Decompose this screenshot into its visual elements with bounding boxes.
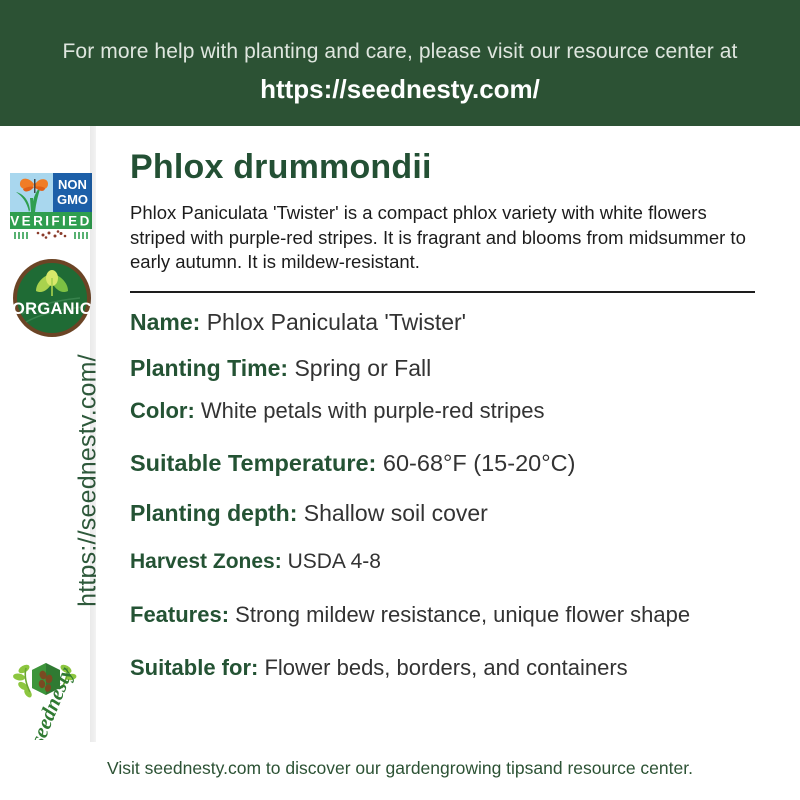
detail-label-name: Name: xyxy=(130,309,200,335)
detail-label-suitable-temperature: Suitable Temperature: xyxy=(130,450,376,476)
non-gmo-verified-icon: NON GMO VERIFIED xyxy=(7,170,95,242)
detail-value-harvest-zones: USDA 4-8 xyxy=(288,550,381,573)
detail-label-planting-depth: Planting depth: xyxy=(130,500,297,526)
detail-row-color: Color: White petals with purple-red stri… xyxy=(130,398,754,423)
footer-text: Visit seednesty.com to discover our gard… xyxy=(107,758,693,779)
detail-label-suitable-for: Suitable for: xyxy=(130,655,258,680)
detail-row-planting-time: Planting Time: Spring or Fall xyxy=(130,355,754,381)
seednesty-logo: seednesty xyxy=(2,644,96,740)
detail-label-features: Features: xyxy=(130,602,229,627)
detail-label-harvest-zones: Harvest Zones: xyxy=(130,550,282,573)
header-website-url[interactable]: https://seednesty.com/ xyxy=(260,74,540,105)
detail-value-name: Phlox Paniculata 'Twister' xyxy=(207,309,466,335)
footer: Visit seednesty.com to discover our gard… xyxy=(0,742,800,800)
non-gmo-line1-text: NON xyxy=(58,177,87,192)
body-area: NON GMO VERIFIED xyxy=(0,126,800,742)
organic-seal-text: ORGANIC xyxy=(12,300,92,318)
product-info-card: Phlox drummondii Phlox Paniculata 'Twist… xyxy=(96,126,800,742)
non-gmo-verified-text: VERIFIED xyxy=(10,214,91,229)
detail-value-planting-time: Spring or Fall xyxy=(294,355,431,381)
product-description: Phlox Paniculata 'Twister' is a compact … xyxy=(130,201,754,274)
detail-row-harvest-zones: Harvest Zones: USDA 4-8 xyxy=(130,550,754,574)
detail-label-planting-time: Planting Time: xyxy=(130,355,288,381)
detail-value-features: Strong mildew resistance, unique flower … xyxy=(235,602,690,627)
detail-row-planting-depth: Planting depth: Shallow soil cover xyxy=(130,500,754,526)
detail-row-suitable-temperature: Suitable Temperature: 60-68°F (15-20°C) xyxy=(130,450,754,477)
detail-list: Name: Phlox Paniculata 'Twister' Plantin… xyxy=(130,309,754,680)
detail-value-color: White petals with purple-red stripes xyxy=(201,398,545,423)
detail-row-name: Name: Phlox Paniculata 'Twister' xyxy=(130,309,754,335)
header-help-text: For more help with planting and care, pl… xyxy=(63,39,738,65)
detail-row-features: Features: Strong mildew resistance, uniq… xyxy=(130,602,754,627)
detail-value-planting-depth: Shallow soil cover xyxy=(304,500,488,526)
detail-value-suitable-for: Flower beds, borders, and containers xyxy=(264,655,627,680)
detail-label-color: Color: xyxy=(130,398,195,423)
section-divider xyxy=(130,291,755,293)
non-gmo-line2-text: GMO xyxy=(57,192,88,207)
detail-value-suitable-temperature: 60-68°F (15-20°C) xyxy=(383,450,576,476)
header-banner: For more help with planting and care, pl… xyxy=(0,0,800,126)
page-title: Phlox drummondii xyxy=(130,126,754,187)
organic-seal-icon: ORGANIC xyxy=(10,256,94,340)
detail-row-suitable-for: Suitable for: Flower beds, borders, and … xyxy=(130,655,754,680)
left-sidebar: NON GMO VERIFIED xyxy=(0,126,96,742)
